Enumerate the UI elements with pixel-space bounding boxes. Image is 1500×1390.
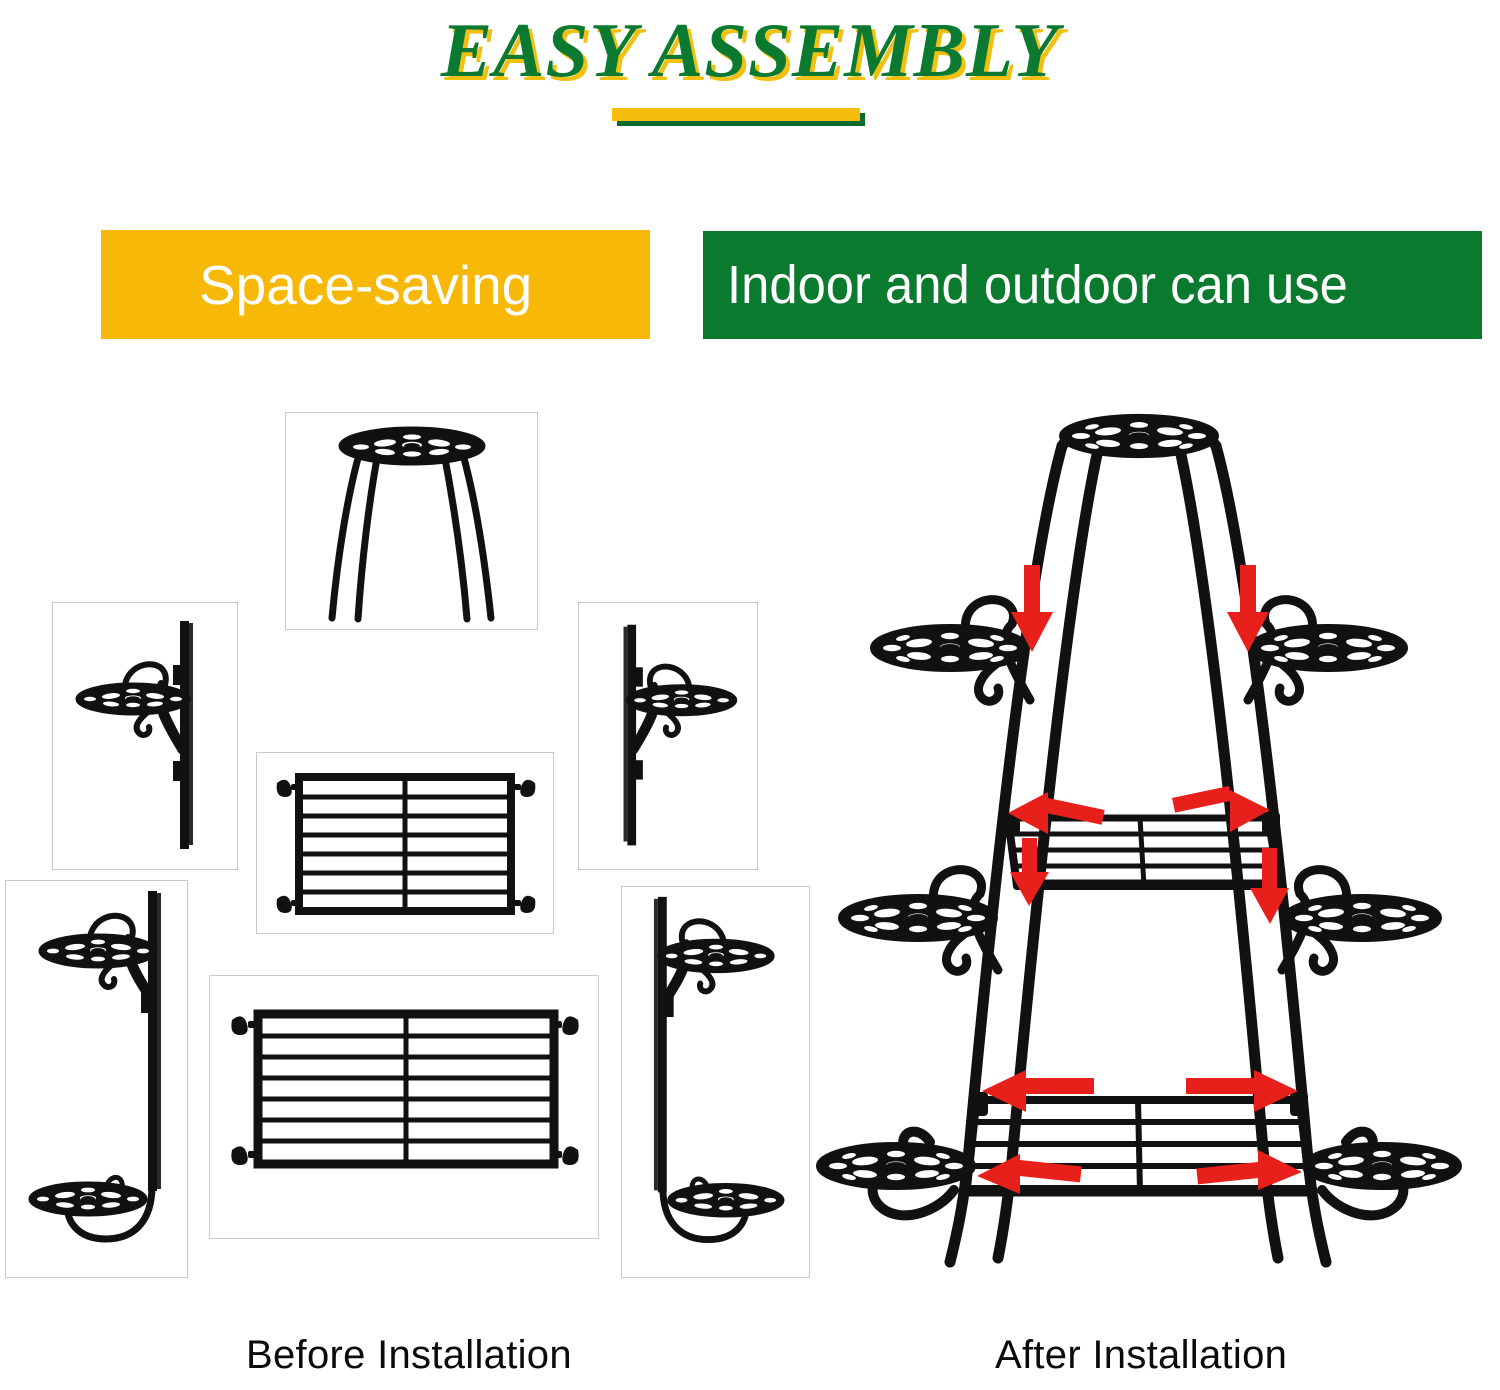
- vertical-post: [654, 897, 674, 1192]
- tray-plate-upper: [40, 935, 156, 967]
- arrow-right-middle-shelf: [1172, 786, 1270, 832]
- part-box-frame-legs: [285, 412, 538, 630]
- tray-bottom-right: [1304, 1144, 1460, 1188]
- single-tray-post-right-illustration: [579, 603, 759, 871]
- title-underline-bar: [612, 108, 860, 121]
- shelf-frame: [258, 1014, 554, 1164]
- tray-plate-lower: [669, 1184, 783, 1216]
- banner-indoor-outdoor-label: Indoor and outdoor can use: [727, 254, 1348, 316]
- caption-after-installation: After Installation: [995, 1333, 1287, 1378]
- tray-upper-left: [872, 626, 1028, 670]
- top-tray-plate: [340, 428, 484, 464]
- tray-plate-upper: [659, 940, 773, 972]
- double-tray-post-left-illustration: [6, 881, 189, 1279]
- part-box-single-tray-left: [52, 602, 238, 870]
- parts-exploded-view: [0, 380, 840, 1320]
- tray-upper-right: [1250, 626, 1406, 670]
- vertical-post: [141, 891, 161, 1191]
- tray-bottom-left: [818, 1144, 974, 1188]
- single-tray-post-left-illustration: [53, 603, 239, 871]
- arrow-right-bottom-foot: [1196, 1150, 1302, 1190]
- upper-shelf-panel-illustration: [257, 753, 555, 935]
- part-box-double-tray-left: [5, 880, 188, 1278]
- tray-middle-left: [840, 896, 996, 940]
- assembled-stand-illustration: [830, 400, 1500, 1320]
- assembled-stand-view: [830, 400, 1500, 1320]
- shelf-frame: [299, 777, 511, 911]
- part-box-upper-shelf: [256, 752, 554, 934]
- tray-plate: [77, 684, 189, 714]
- arrow-left-bottom-shelf: [982, 1070, 1094, 1112]
- tray-plate-lower: [30, 1183, 146, 1215]
- header: EASY ASSEMBLY: [0, 0, 1500, 150]
- frame-legs-illustration: [286, 413, 539, 631]
- tray-middle-right: [1284, 896, 1440, 940]
- banner-space-saving-label: Space-saving: [199, 253, 532, 317]
- part-box-double-tray-right: [621, 886, 810, 1278]
- lower-shelf-panel-illustration: [210, 976, 600, 1240]
- tray-plate: [627, 686, 735, 715]
- caption-before-installation: Before Installation: [246, 1333, 572, 1378]
- double-tray-post-right-illustration: [622, 887, 811, 1279]
- page-title: EASY ASSEMBLY: [0, 6, 1500, 95]
- banner-indoor-outdoor: Indoor and outdoor can use: [703, 231, 1482, 339]
- banner-space-saving: Space-saving: [101, 230, 650, 339]
- part-box-lower-shelf: [209, 975, 599, 1239]
- arrow-left-middle-shelf: [1008, 792, 1105, 834]
- arrow-right-bottom-shelf: [1186, 1070, 1298, 1112]
- part-box-single-tray-right: [578, 602, 758, 870]
- tray-top: [1061, 416, 1217, 456]
